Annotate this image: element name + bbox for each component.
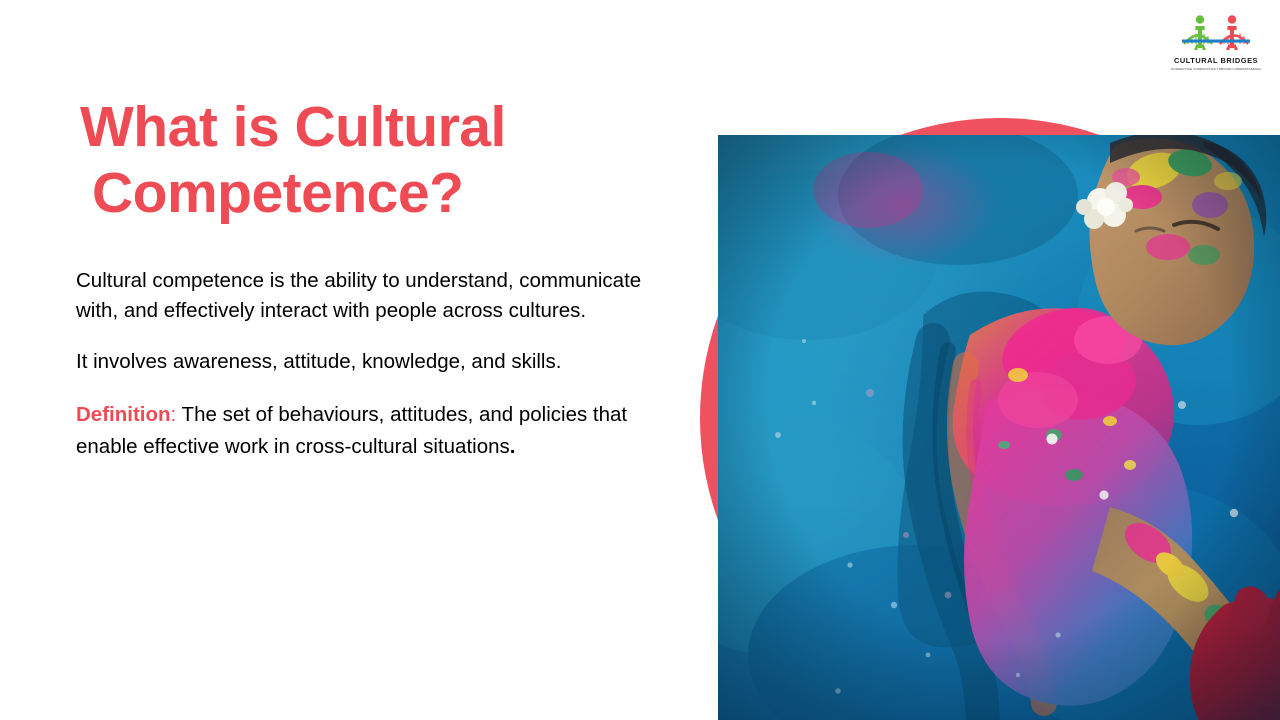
bridge-logo-icon (1180, 14, 1252, 54)
paragraph-formal-definition: Definition: The set of behaviours, attit… (76, 399, 676, 463)
title-line-1: What is Cultural (80, 95, 506, 159)
logo-wordmark: CULTURAL BRIDGES (1174, 56, 1258, 65)
definition-label: Definition (76, 403, 171, 426)
slide-canvas: CULTURAL BRIDGES CONNECTING COMMUNITIES … (0, 0, 1280, 720)
holi-festival-photo (718, 135, 1280, 720)
body-copy: Cultural competence is the ability to un… (76, 266, 676, 462)
paragraph-components: It involves awareness, attitude, knowled… (76, 347, 676, 377)
logo-tagline: CONNECTING COMMUNITIES THROUGH UNDERSTAN… (1171, 67, 1261, 71)
holi-photo-illustration (718, 135, 1280, 720)
cultural-bridges-logo: CULTURAL BRIDGES CONNECTING COMMUNITIES … (1178, 14, 1254, 76)
title-line-2: Competence? (80, 160, 640, 226)
definition-end-period: . (510, 435, 516, 458)
page-title: What is Cultural Competence? (80, 94, 640, 226)
paragraph-definition-intro: Cultural competence is the ability to un… (76, 266, 676, 325)
